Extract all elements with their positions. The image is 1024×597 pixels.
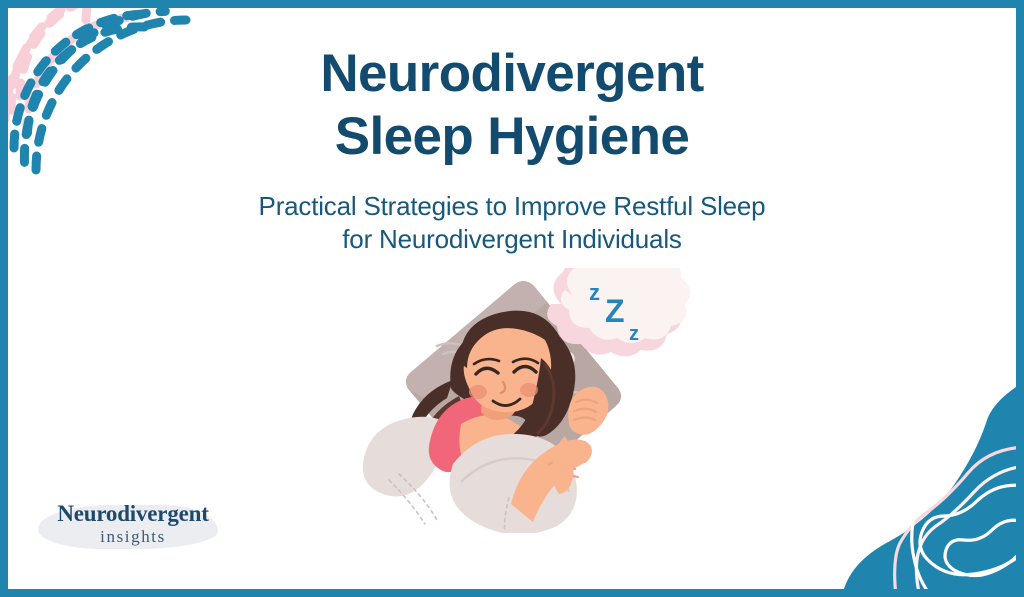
neurodivergent-insights-logo[interactable]: Neurodivergent insights (38, 495, 228, 557)
heading-block: Neurodivergent Sleep Hygiene Practical S… (0, 42, 1024, 256)
page-subtitle: Practical Strategies to Improve Restful … (0, 190, 1024, 256)
blue-blob-decoration (824, 382, 1024, 597)
logo-main-text: Neurodivergent (42, 501, 224, 527)
sleeping-woman-illustration: z Z z (333, 268, 693, 533)
page-title: Neurodivergent Sleep Hygiene (0, 42, 1024, 168)
zzz-letter-2: Z (605, 293, 625, 329)
title-line-2: Sleep Hygiene (335, 107, 690, 166)
zzz-letter-1: z (589, 280, 600, 305)
subtitle-line-2: for Neurodivergent Individuals (342, 224, 681, 254)
logo-sub-text: insights (42, 527, 224, 547)
slide-canvas: Neurodivergent Sleep Hygiene Practical S… (0, 0, 1024, 597)
zzz-letter-3: z (629, 323, 639, 345)
right-cheek (520, 383, 538, 397)
title-line-1: Neurodivergent (320, 44, 703, 103)
left-cheek (469, 385, 487, 399)
subtitle-line-1: Practical Strategies to Improve Restful … (259, 191, 766, 221)
